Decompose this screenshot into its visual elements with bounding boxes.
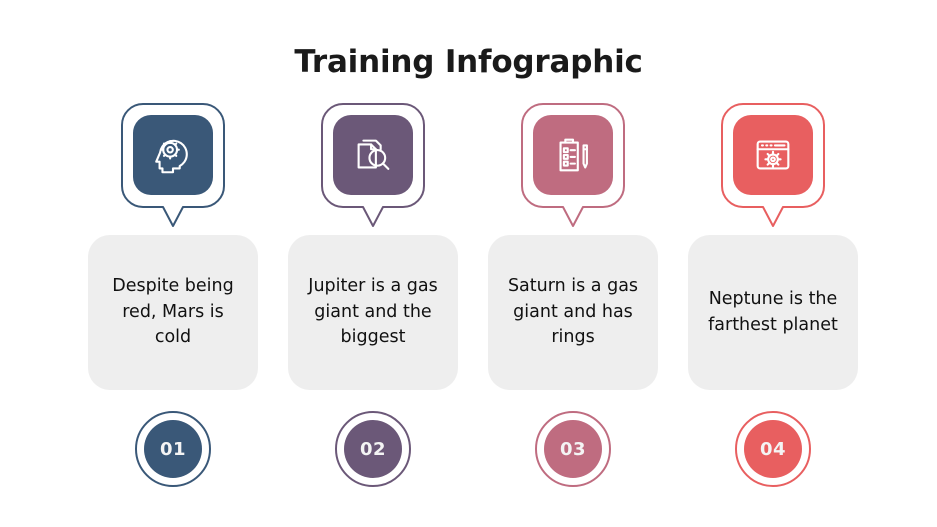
infographic-column: Despite being red, Mars is cold 01: [88, 103, 258, 487]
icon-badge[interactable]: [121, 103, 225, 229]
icon-badge[interactable]: [721, 103, 825, 229]
info-card: Saturn is a gas giant and has rings: [488, 235, 658, 390]
step-number-badge[interactable]: 02: [335, 411, 411, 487]
step-number-badge[interactable]: 03: [535, 411, 611, 487]
step-number-circle: 04: [744, 420, 802, 478]
step-number-circle: 01: [144, 420, 202, 478]
step-number-circle: 03: [544, 420, 602, 478]
step-number-label: 02: [360, 439, 386, 460]
icon-tile: [333, 115, 413, 195]
head-gear-icon: [150, 132, 196, 178]
info-card: Jupiter is a gas giant and the biggest: [288, 235, 458, 390]
infographic-slide: Training Infographic: [0, 0, 937, 527]
infographic-column: Neptune is the farthest planet 04: [688, 103, 858, 487]
step-number-label: 04: [760, 439, 786, 460]
browser-gear-icon: [750, 132, 796, 178]
info-card-text: Despite being red, Mars is cold: [104, 274, 242, 352]
icon-tile: [533, 115, 613, 195]
info-card-text: Neptune is the farthest planet: [704, 287, 842, 339]
page-title: Training Infographic: [0, 44, 937, 80]
icon-badge[interactable]: [521, 103, 625, 229]
step-number-circle: 02: [344, 420, 402, 478]
document-search-icon: [350, 132, 396, 178]
infographic-columns: Despite being red, Mars is cold 01: [88, 103, 858, 487]
icon-badge[interactable]: [321, 103, 425, 229]
step-number-badge[interactable]: 04: [735, 411, 811, 487]
infographic-column: Saturn is a gas giant and has rings 03: [488, 103, 658, 487]
step-number-badge[interactable]: 01: [135, 411, 211, 487]
step-number-label: 03: [560, 439, 586, 460]
info-card: Neptune is the farthest planet: [688, 235, 858, 390]
step-number-label: 01: [160, 439, 186, 460]
icon-tile: [733, 115, 813, 195]
info-card-text: Saturn is a gas giant and has rings: [504, 274, 642, 352]
clipboard-pen-icon: [550, 132, 596, 178]
info-card-text: Jupiter is a gas giant and the biggest: [304, 274, 442, 352]
infographic-column: Jupiter is a gas giant and the biggest 0…: [288, 103, 458, 487]
info-card: Despite being red, Mars is cold: [88, 235, 258, 390]
icon-tile: [133, 115, 213, 195]
